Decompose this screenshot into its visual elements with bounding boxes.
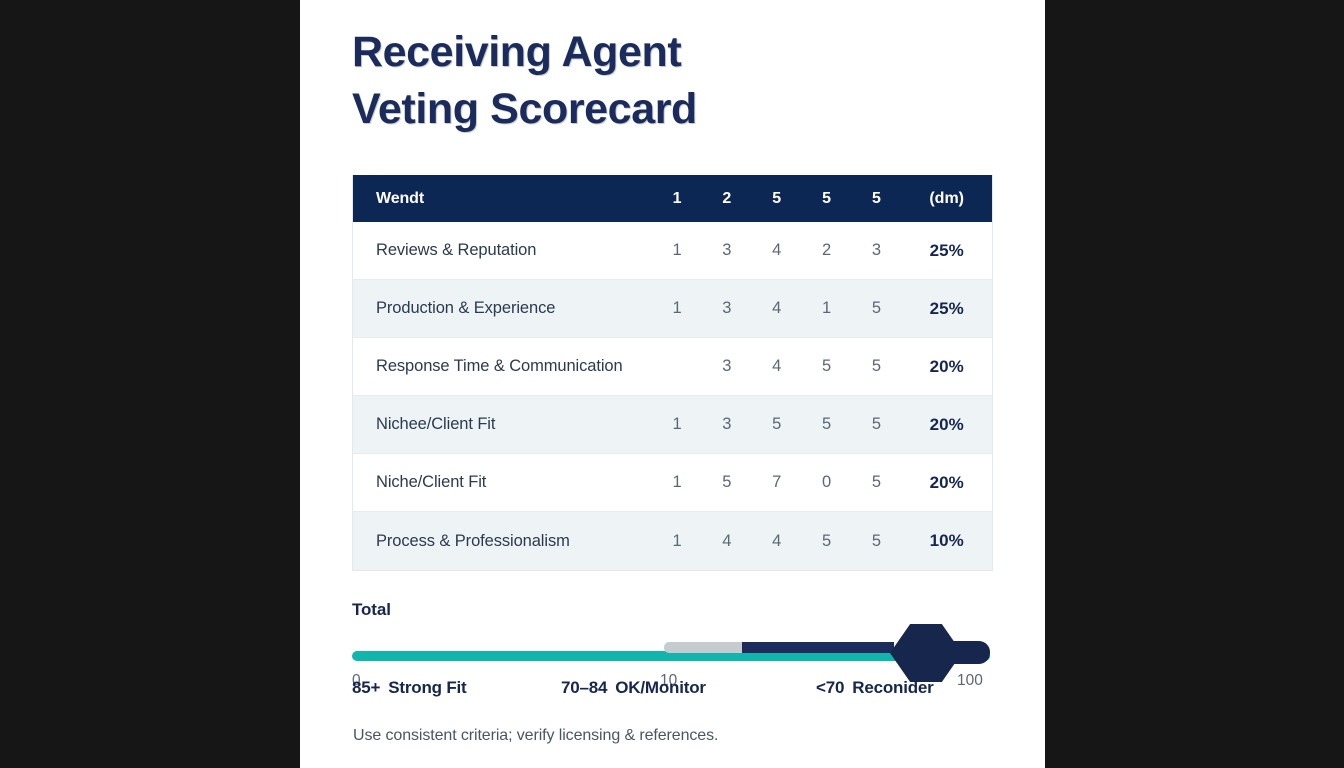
legend-range: 85+ xyxy=(352,678,380,697)
screenshot-stage: Receiving Agent Veting Scorecard Wendt 1… xyxy=(0,0,1344,768)
row-value-4: 5 xyxy=(802,532,852,551)
slider-segment-navy xyxy=(742,642,894,653)
total-score-slider[interactable] xyxy=(352,626,993,678)
header-label: Wendt xyxy=(353,190,652,208)
row-value-1: 1 xyxy=(652,473,702,492)
row-value-3: 4 xyxy=(752,299,802,318)
page-title: Receiving Agent Veting Scorecard xyxy=(352,24,972,138)
row-value-4: 5 xyxy=(802,357,852,376)
row-label: Niche/Client Fit xyxy=(353,473,652,492)
table-row[interactable]: Production & Experience 1 3 4 1 5 25% xyxy=(353,280,992,338)
row-value-2: 3 xyxy=(702,299,752,318)
legend-text: OK/Monitor xyxy=(615,678,706,697)
row-value-3: 4 xyxy=(752,241,802,260)
row-value-1: 1 xyxy=(652,241,702,260)
header-col-2: 2 xyxy=(702,190,752,208)
row-value-2: 3 xyxy=(702,357,752,376)
row-label: Nichee/Client Fit xyxy=(353,415,652,434)
row-value-3: 5 xyxy=(752,415,802,434)
legend-item-strong-fit: 85+Strong Fit xyxy=(352,678,467,698)
table-header-row: Wendt 1 2 5 5 5 (dm) xyxy=(353,175,992,222)
footnote: Use consistent criteria; verify licensin… xyxy=(353,727,994,745)
table-row[interactable]: Nichee/Client Fit 1 3 5 5 5 20% xyxy=(353,396,992,454)
table-row[interactable]: Niche/Client Fit 1 5 7 0 5 20% xyxy=(353,454,992,512)
legend-range: <70 xyxy=(816,678,844,697)
legend-item-ok-monitor: 70–84OK/Monitor xyxy=(561,678,706,698)
row-value-1: 1 xyxy=(652,415,702,434)
row-value-5: 5 xyxy=(851,415,901,434)
row-value-4: 1 xyxy=(802,299,852,318)
total-label: Total xyxy=(352,600,993,620)
row-weight: 20% xyxy=(901,357,992,377)
row-value-3: 7 xyxy=(752,473,802,492)
legend-range: 70–84 xyxy=(561,678,607,697)
row-label: Process & Professionalism xyxy=(353,532,652,551)
row-value-2: 5 xyxy=(702,473,752,492)
row-label: Response Time & Communication xyxy=(353,357,652,376)
row-value-2: 3 xyxy=(702,415,752,434)
page-title-line-2: Veting Scorecard xyxy=(352,81,972,138)
row-weight: 20% xyxy=(901,415,992,435)
row-value-4: 2 xyxy=(802,241,852,260)
row-value-1: 1 xyxy=(652,299,702,318)
row-value-2: 4 xyxy=(702,532,752,551)
row-value-5: 5 xyxy=(851,357,901,376)
row-label: Production & Experience xyxy=(353,299,652,318)
slider-segment-gray xyxy=(664,642,742,653)
row-value-5: 5 xyxy=(851,532,901,551)
header-col-4: 5 xyxy=(802,190,852,208)
row-value-1: 1 xyxy=(652,532,702,551)
row-value-3: 4 xyxy=(752,357,802,376)
page-title-line-1: Receiving Agent xyxy=(352,24,972,81)
table-row[interactable]: Process & Professionalism 1 4 4 5 5 10% xyxy=(353,512,992,570)
row-value-4: 0 xyxy=(802,473,852,492)
legend-text: Reconider xyxy=(852,678,933,697)
row-value-3: 4 xyxy=(752,532,802,551)
row-value-4: 5 xyxy=(802,415,852,434)
row-value-5: 3 xyxy=(851,241,901,260)
slider-handle-tail xyxy=(948,641,990,664)
scorecard-card: Receiving Agent Veting Scorecard Wendt 1… xyxy=(300,0,1045,768)
row-weight: 25% xyxy=(901,299,992,319)
row-weight: 25% xyxy=(901,241,992,261)
legend-text: Strong Fit xyxy=(388,678,466,697)
row-value-2: 3 xyxy=(702,241,752,260)
table-row[interactable]: Reviews & Reputation 1 3 4 2 3 25% xyxy=(353,222,992,280)
row-label: Reviews & Reputation xyxy=(353,241,652,260)
row-value-5: 5 xyxy=(851,473,901,492)
scorecard-table: Wendt 1 2 5 5 5 (dm) Reviews & Reputatio… xyxy=(352,175,993,571)
header-col-1: 1 xyxy=(652,190,702,208)
legend-item-reconsider: <70Reconider xyxy=(816,678,934,698)
row-weight: 10% xyxy=(901,531,992,551)
header-col-3: 5 xyxy=(752,190,802,208)
table-row[interactable]: Response Time & Communication 3 4 5 5 20… xyxy=(353,338,992,396)
row-value-5: 5 xyxy=(851,299,901,318)
score-legend: 85+Strong Fit 70–84OK/Monitor <70Reconid… xyxy=(352,678,993,704)
header-weight: (dm) xyxy=(901,190,992,208)
row-weight: 20% xyxy=(901,473,992,493)
header-col-5: 5 xyxy=(851,190,901,208)
